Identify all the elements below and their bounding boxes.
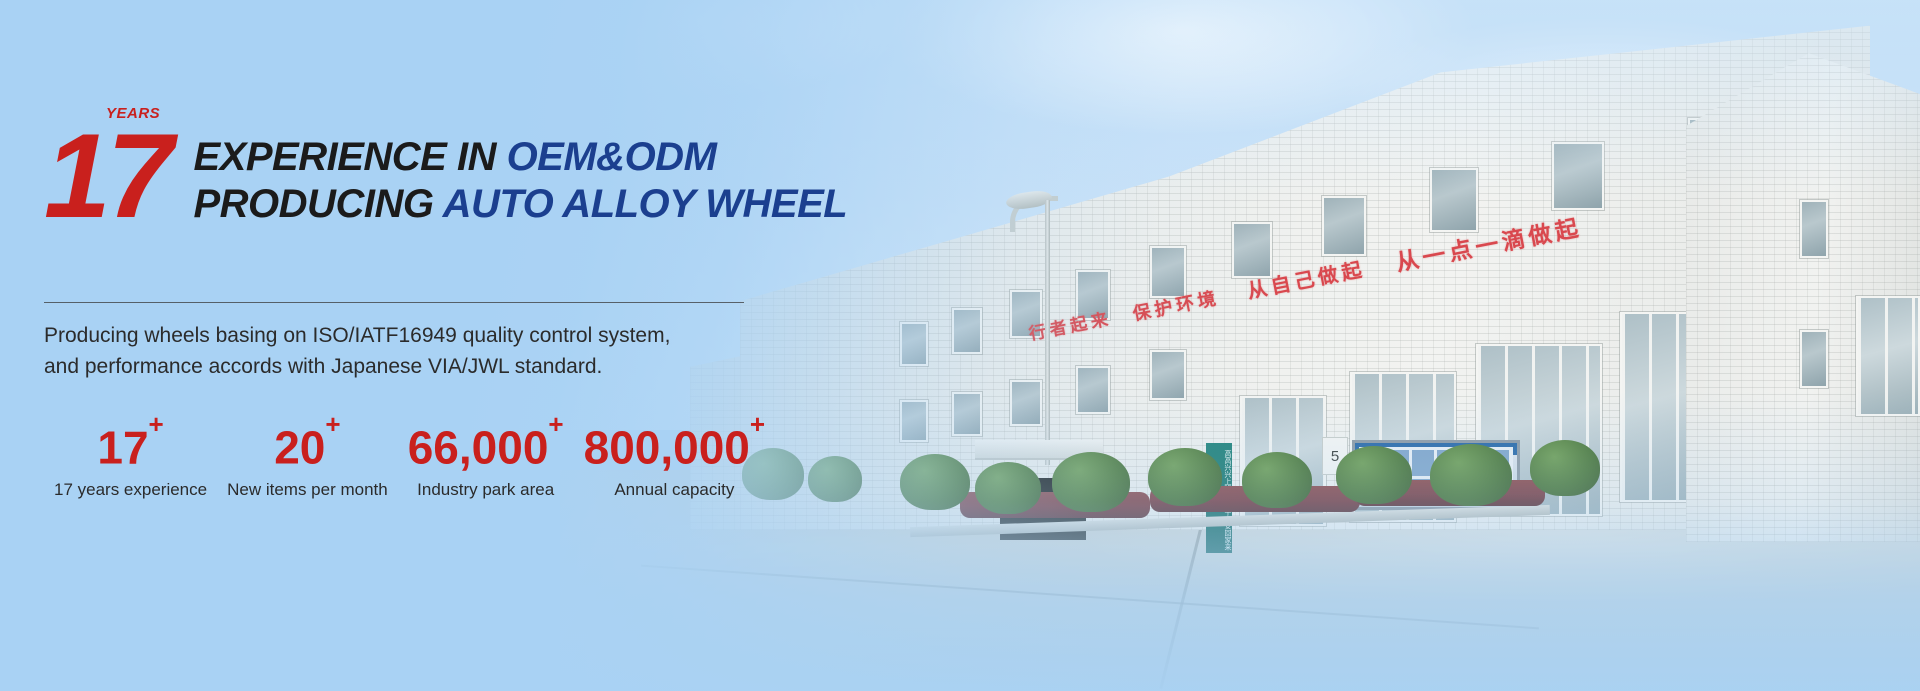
stat-caption-0: 17 years experience (54, 479, 207, 501)
stat-item-0: 17+ 17 years experience (44, 412, 217, 501)
years-label: YEARS (106, 105, 160, 122)
company-hero-banner: 行者起来 保护环境 从自己做起 从一点一滴做起 高高兴兴上班去 平平安安回家来 … (0, 0, 1920, 691)
headline-line-1-black: EXPERIENCE IN (193, 135, 506, 179)
stat-suffix-0: + (149, 409, 164, 439)
years-number: 17 (44, 108, 169, 230)
stat-number-3: 800,000 (584, 421, 750, 473)
stat-suffix-1: + (325, 409, 340, 439)
stat-item-2: 66,000+ Industry park area (398, 412, 574, 501)
description-line-1: Producing wheels basing on ISO/IATF16949… (44, 320, 764, 351)
stat-suffix-3: + (750, 409, 765, 439)
stat-value-2: 66,000+ (408, 412, 564, 473)
description-line-2: and performance accords with Japanese VI… (44, 351, 764, 382)
headline-row: YEARS 17 EXPERIENCE IN OEM&ODM PRODUCING… (44, 108, 847, 230)
divider-rule (44, 302, 744, 303)
headline-line-1-blue: OEM&ODM (507, 135, 717, 179)
banner-content: YEARS 17 EXPERIENCE IN OEM&ODM PRODUCING… (0, 0, 820, 691)
stat-suffix-2: + (548, 409, 563, 439)
headline-text-block: EXPERIENCE IN OEM&ODM PRODUCING AUTO ALL… (179, 108, 847, 228)
stat-number-0: 17 (97, 421, 148, 473)
stat-caption-1: New items per month (227, 479, 388, 501)
stat-value-1: 20+ (227, 412, 388, 473)
stat-item-1: 20+ New items per month (217, 412, 398, 501)
stat-caption-3: Annual capacity (584, 479, 765, 501)
stat-value-3: 800,000+ (584, 412, 765, 473)
stat-item-3: 800,000+ Annual capacity (574, 412, 775, 501)
stat-caption-2: Industry park area (408, 479, 564, 501)
stat-number-1: 20 (274, 421, 325, 473)
headline-line-2-black: PRODUCING (193, 182, 442, 226)
headline-line-1: EXPERIENCE IN OEM&ODM (193, 134, 847, 181)
stats-row: 17+ 17 years experience 20+ New items pe… (44, 412, 775, 501)
years-number-block: YEARS 17 (44, 108, 179, 230)
stat-value-0: 17+ (54, 412, 207, 473)
description-text: Producing wheels basing on ISO/IATF16949… (44, 320, 764, 382)
headline-line-2: PRODUCING AUTO ALLOY WHEEL (193, 181, 847, 228)
headline-line-2-blue: AUTO ALLOY WHEEL (443, 182, 848, 226)
stat-number-2: 66,000 (408, 421, 549, 473)
